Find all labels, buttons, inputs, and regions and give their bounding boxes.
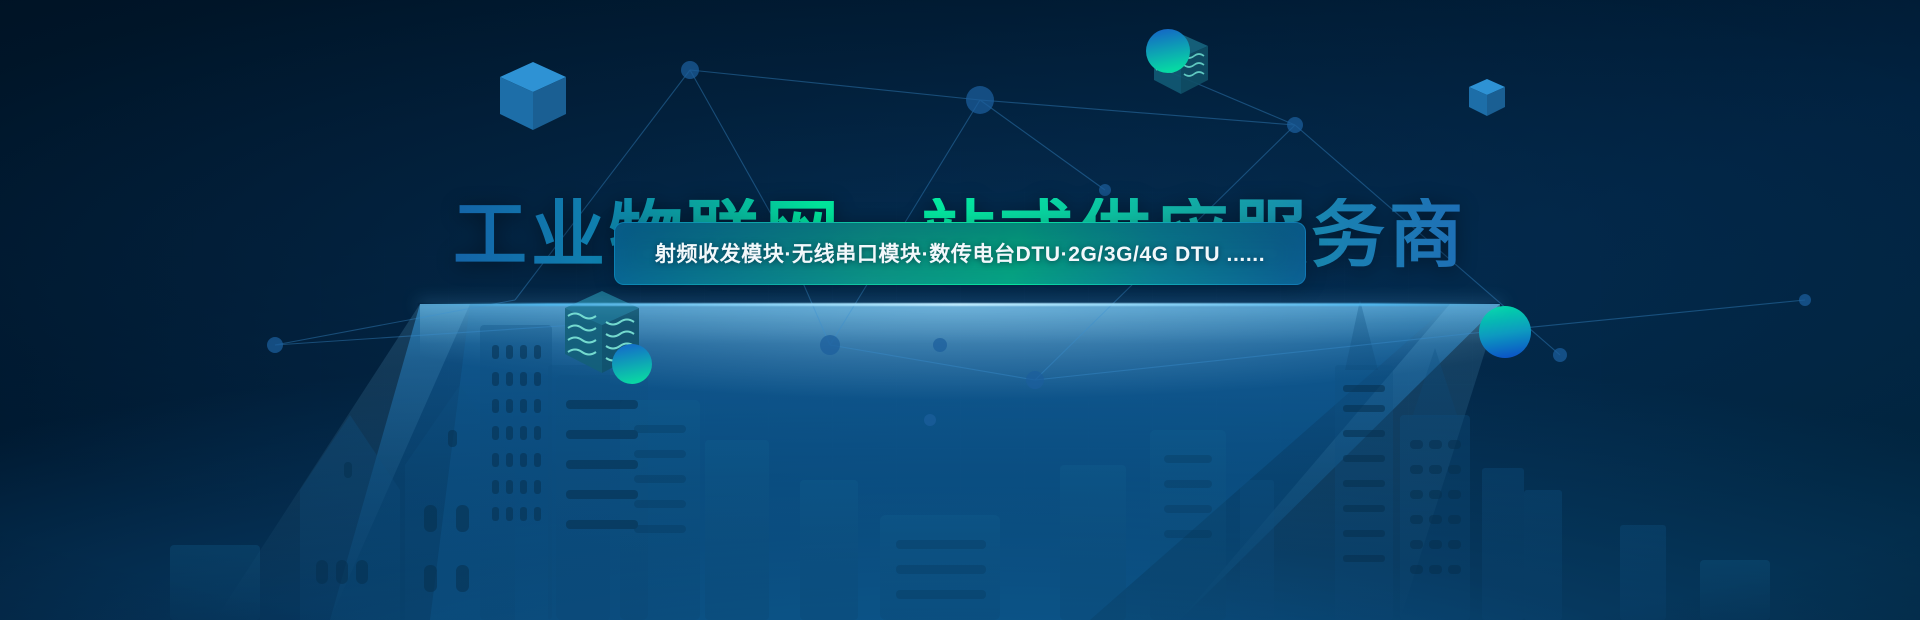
subtitle-pill: 射频收发模块·无线串口模块·数传电台DTU·2G/3G/4G DTU .....… [614, 222, 1306, 285]
subtitle-text: 射频收发模块·无线串口模块·数传电台DTU·2G/3G/4G DTU .....… [655, 243, 1265, 266]
hero-banner: 工业物联网一站式供应服务商 射频收发模块·无线串口模块·数传电台DTU·2G/3… [0, 0, 1920, 620]
city-skyline [0, 290, 1920, 620]
subtitle-container: 射频收发模块·无线串口模块·数传电台DTU·2G/3G/4G DTU .....… [0, 222, 1920, 285]
